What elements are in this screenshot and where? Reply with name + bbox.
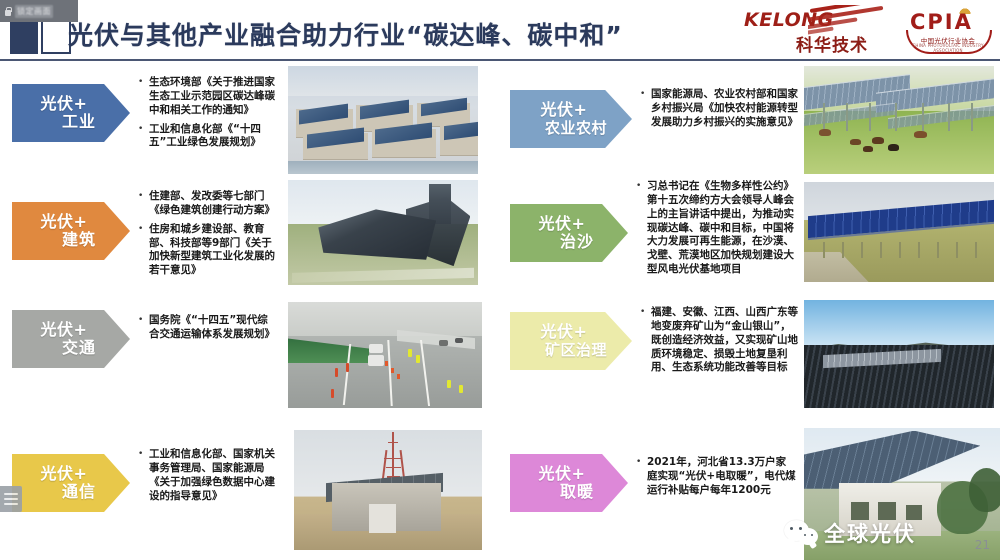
topic-label-mine-restoration[interactable]: 光伏+ 矿区治理 xyxy=(510,312,632,370)
page-title: 光伏与其他产业融合助力行业“碳达峰、碳中和” xyxy=(68,16,623,52)
topic-label-line1: 光伏+ xyxy=(41,95,88,113)
photo-mine-area-solar xyxy=(804,300,994,408)
bullet-text: 福建、安徽、江西、山西广东等地变废弃矿山为“金山银山”，既创造经济效益，又实现矿… xyxy=(651,306,800,375)
list-item: • 住建部、发改委等七部门《绿色建筑创建行动方案》 xyxy=(138,190,278,218)
watermark: 全球光伏 xyxy=(784,518,916,548)
lock-screen-badge[interactable]: 锁定画面 xyxy=(0,0,78,22)
topic-label-desertification[interactable]: 光伏+ 治沙 xyxy=(510,204,628,262)
bullet-text: 工业和信息化部《“十四五”工业绿色发展规划》 xyxy=(149,123,278,151)
list-item: • 福建、安徽、江西、山西广东等地变废弃矿山为“金山银山”，既创造经济效益，又实… xyxy=(640,306,800,375)
bullet-dot-icon: • xyxy=(138,448,144,503)
topic-label-line2: 治沙 xyxy=(560,233,594,251)
photo-industrial-park-rooftop-solar xyxy=(288,66,478,174)
bullet-text: 生态环境部《关于推进国家生态工业示范园区碳达峰碳中和相关工作的通知》 xyxy=(149,76,278,118)
topic-label-line1: 光伏+ xyxy=(541,101,588,119)
title-decor-square-outline xyxy=(41,18,71,54)
watermark-text: 全球光伏 xyxy=(824,518,916,548)
topic-bullets-communication: • 工业和信息化部、国家机关事务管理局、国家能源局《关于加强绿色数据中心建设的指… xyxy=(138,448,282,508)
topic-label-line2: 工业 xyxy=(62,113,96,131)
topic-label-agriculture[interactable]: 光伏+ 农业农村 xyxy=(510,90,632,148)
topic-label-communication[interactable]: 光伏+ 通信 xyxy=(12,454,130,512)
title-decor-square-filled xyxy=(10,18,38,54)
bullet-dot-icon: • xyxy=(138,314,144,342)
list-item: • 住房和城乡建设部、教育部、科技部等9部门《关于加快新型建筑工业化发展的若干意… xyxy=(138,223,278,278)
bullet-dot-icon: • xyxy=(138,123,144,151)
topic-label-line1: 光伏+ xyxy=(541,323,588,341)
topic-bullets-agriculture: • 国家能源局、农业农村部和国家乡村振兴局《加快农村能源转型发展助力乡村振兴的实… xyxy=(640,88,800,135)
topic-label-line1: 光伏+ xyxy=(539,215,586,233)
photo-agrivoltaics-grazing xyxy=(804,66,994,174)
list-item: • 2021年，河北省13.3万户家庭实现“光伏+电取暖”，电代煤运行补贴每户每… xyxy=(636,456,796,498)
bullet-dot-icon: • xyxy=(640,88,646,130)
content-area: 光伏+ 工业 • 生态环境部《关于推进国家生态工业示范园区碳达峰碳中和相关工作的… xyxy=(0,62,1000,560)
list-item: • 习总书记在《生物多样性公约》第十五次缔约方大会领导人峰会上的主旨讲话中提出，… xyxy=(636,180,804,277)
menu-line-icon xyxy=(4,498,18,500)
bullet-dot-icon: • xyxy=(138,190,144,218)
bullet-text: 习总书记在《生物多样性公约》第十五次缔约方大会领导人峰会上的主旨讲话中提出，为推… xyxy=(647,180,804,277)
topic-label-line2: 建筑 xyxy=(62,231,96,249)
topic-bullets-transport: • 国务院《“十四五”现代综合交通运输体系发展规划》 xyxy=(138,314,278,347)
photo-bipv-building xyxy=(288,180,478,285)
topic-bullets-mine-restoration: • 福建、安徽、江西、山西广东等地变废弃矿山为“金山银山”，既创造经济效益，又实… xyxy=(640,306,800,380)
menu-line-icon xyxy=(4,503,18,505)
photo-solar-highway xyxy=(288,302,482,408)
wechat-icon xyxy=(784,520,818,546)
slide-canvas: 锁定画面 光伏与其他产业融合助力行业“碳达峰、碳中和” KELONG 科华技术 … xyxy=(0,0,1000,560)
list-item: • 工业和信息化部、国家机关事务管理局、国家能源局《关于加强绿色数据中心建设的指… xyxy=(138,448,282,503)
bullet-dot-icon: • xyxy=(138,76,144,118)
cpia-logo: CPIA 中国光伏行业协会 CHINA PHOTOVOLTAIC INDUSTR… xyxy=(902,5,994,55)
bullet-dot-icon: • xyxy=(636,180,642,277)
topic-label-line2: 取暖 xyxy=(560,483,594,501)
page-number: 21 xyxy=(975,538,990,552)
list-item: • 国务院《“十四五”现代综合交通运输体系发展规划》 xyxy=(138,314,278,342)
topic-label-heating[interactable]: 光伏+ 取暖 xyxy=(510,454,628,512)
topic-label-line2: 通信 xyxy=(62,483,96,501)
topic-label-line1: 光伏+ xyxy=(41,465,88,483)
bullet-dot-icon: • xyxy=(640,306,646,375)
topic-label-line1: 光伏+ xyxy=(539,465,586,483)
bullet-text: 国务院《“十四五”现代综合交通运输体系发展规划》 xyxy=(149,314,278,342)
topic-label-line1: 光伏+ xyxy=(41,213,88,231)
bullet-text: 住房和城乡建设部、教育部、科技部等9部门《关于加快新型建筑工业化发展的若干意见》 xyxy=(149,223,278,278)
topic-label-line1: 光伏+ xyxy=(41,321,88,339)
cpia-logo-cn-sub: CHINA PHOTOVOLTAIC INDUSTRY ASSOCIATION xyxy=(908,43,988,53)
kelong-logo-cn: 科华技术 xyxy=(796,31,868,56)
edge-menu-chip[interactable] xyxy=(0,486,22,512)
bullet-dot-icon: • xyxy=(636,456,642,498)
right-column: 光伏+ 农业农村 • 国家能源局、农业农村部和国家乡村振兴局《加快农村能源转型发… xyxy=(500,62,1000,560)
bullet-dot-icon: • xyxy=(138,223,144,278)
list-item: • 国家能源局、农业农村部和国家乡村振兴局《加快农村能源转型发展助力乡村振兴的实… xyxy=(640,88,800,130)
logo-group: KELONG 科华技术 CPIA 中国光伏行业协会 CHINA PHOTOVOL… xyxy=(742,4,994,56)
title-underline xyxy=(0,59,1000,61)
topic-bullets-desertification: • 习总书记在《生物多样性公约》第十五次缔约方大会领导人峰会上的主旨讲话中提出，… xyxy=(636,180,804,282)
lock-icon xyxy=(3,6,12,17)
topic-label-line2: 矿区治理 xyxy=(545,342,607,359)
photo-telecom-tower-solar xyxy=(294,430,482,550)
topic-label-transport[interactable]: 光伏+ 交通 xyxy=(12,310,130,368)
list-item: • 工业和信息化部《“十四五”工业绿色发展规划》 xyxy=(138,123,278,151)
bullet-text: 2021年，河北省13.3万户家庭实现“光伏+电取暖”，电代煤运行补贴每户每年1… xyxy=(647,456,796,498)
list-item: • 生态环境部《关于推进国家生态工业示范园区碳达峰碳中和相关工作的通知》 xyxy=(138,76,278,118)
topic-bullets-building: • 住建部、发改委等七部门《绿色建筑创建行动方案》 • 住房和城乡建设部、教育部… xyxy=(138,190,278,283)
bullet-text: 住建部、发改委等七部门《绿色建筑创建行动方案》 xyxy=(149,190,278,218)
left-column: 光伏+ 工业 • 生态环境部《关于推进国家生态工业示范园区碳达峰碳中和相关工作的… xyxy=(0,62,500,560)
menu-line-icon xyxy=(4,493,18,495)
photo-desert-solar-farm xyxy=(804,182,994,282)
topic-label-line2: 农业农村 xyxy=(545,120,607,137)
topic-label-line2: 交通 xyxy=(62,339,96,357)
topic-bullets-heating: • 2021年，河北省13.3万户家庭实现“光伏+电取暖”，电代煤运行补贴每户每… xyxy=(636,456,796,503)
topic-label-industry[interactable]: 光伏+ 工业 xyxy=(12,84,130,142)
topic-label-building[interactable]: 光伏+ 建筑 xyxy=(12,202,130,260)
bullet-text: 工业和信息化部、国家机关事务管理局、国家能源局《关于加强绿色数据中心建设的指导意… xyxy=(149,448,282,503)
lock-screen-label: 锁定画面 xyxy=(15,5,53,18)
kelong-logo: KELONG 科华技术 xyxy=(742,5,892,55)
bullet-text: 国家能源局、农业农村部和国家乡村振兴局《加快农村能源转型发展助力乡村振兴的实施意… xyxy=(651,88,800,130)
topic-bullets-industry: • 生态环境部《关于推进国家生态工业示范园区碳达峰碳中和相关工作的通知》 • 工… xyxy=(138,76,278,155)
